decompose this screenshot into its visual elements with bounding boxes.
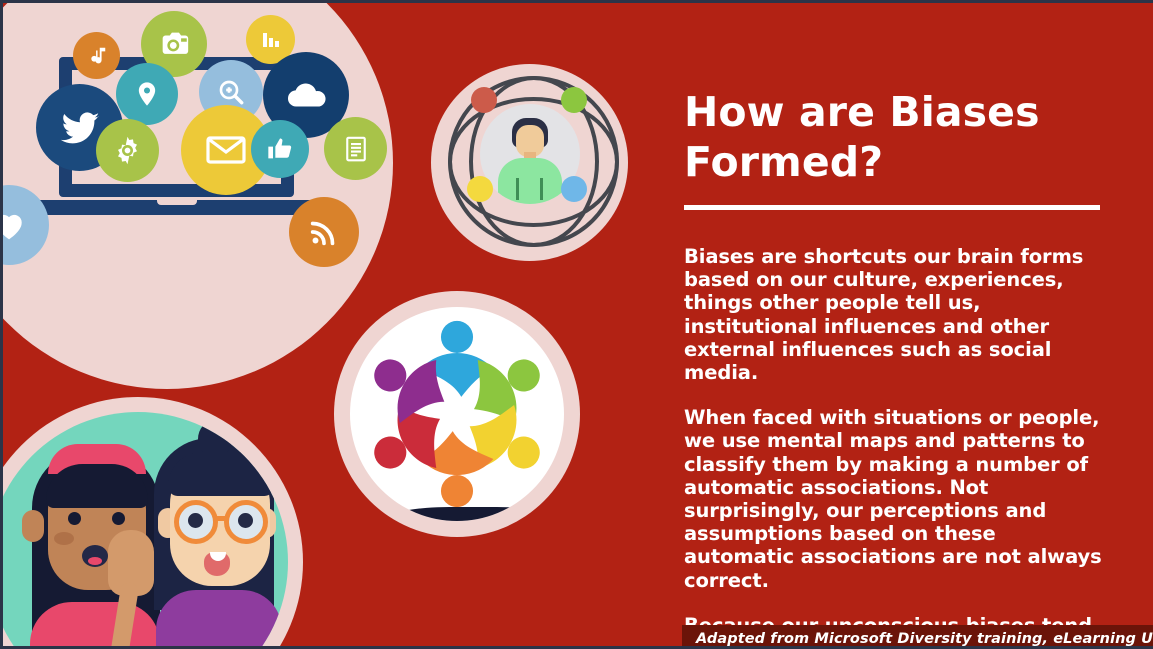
illustration-person-orbit [431, 64, 628, 261]
body-paragraph-2: When faced with situations or people, we… [684, 406, 1109, 592]
page-title: How are Biases Formed? [684, 87, 1109, 187]
teamwork-logo-icon [350, 307, 564, 521]
thumbs-up-icon [251, 120, 309, 178]
body-paragraph-1: Biases are shortcuts our brain forms bas… [684, 245, 1109, 384]
illustration-teamwork-diversity [334, 291, 580, 537]
orbit-ring-3 [448, 97, 619, 227]
heart-icon [0, 185, 49, 265]
orbit-node-red [471, 87, 497, 113]
orbit-node-green [561, 87, 587, 113]
slide-canvas: How are Biases Formed? Biases are shortc… [0, 0, 1153, 649]
text-column: How are Biases Formed? Biases are shortc… [684, 87, 1109, 649]
illustration-children-whispering [0, 397, 303, 649]
rss-wifi-icon [289, 197, 359, 267]
orbit-node-blue [561, 176, 587, 202]
music-note-icon [73, 32, 120, 79]
credit-text: Adapted from Microsoft Diversity trainin… [682, 631, 1153, 647]
credit-bar: Adapted from Microsoft Diversity trainin… [682, 625, 1153, 649]
orbit-node-yellow [467, 176, 493, 202]
gear-icon [96, 119, 159, 182]
document-icon [324, 117, 387, 180]
location-pin-icon [116, 63, 178, 125]
title-underline-rule [684, 205, 1100, 210]
illustration-social-media-laptop [0, 0, 393, 389]
